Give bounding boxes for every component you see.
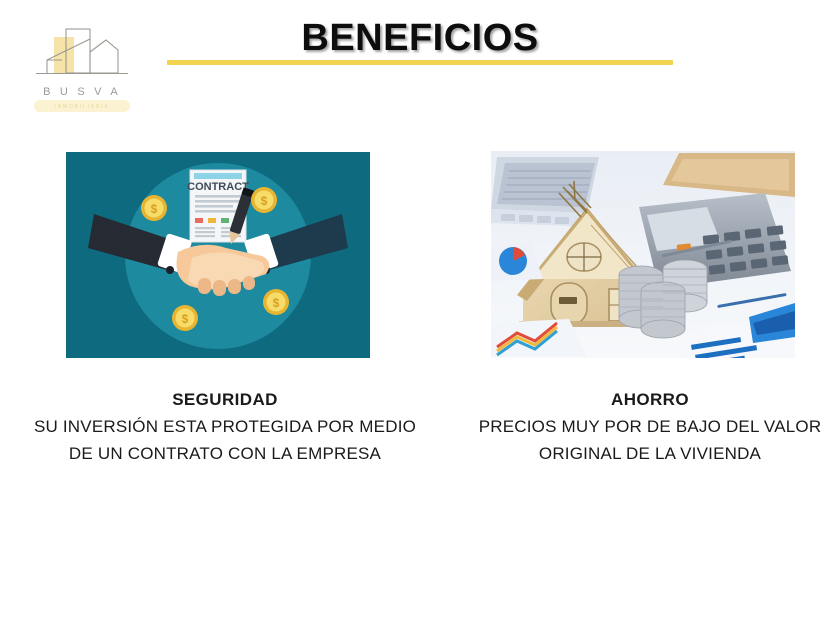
svg-text:$: $ [273, 296, 280, 310]
svg-text:CONTRACT: CONTRACT [187, 181, 249, 193]
benefit-body-seguridad: SU INVERSIÓN ESTA PROTEGIDA POR MEDIO DE… [30, 413, 420, 467]
benefit-body-ahorro: PRECIOS MUY POR DE BAJO DEL VALOR ORIGIN… [455, 413, 840, 467]
logo-wordmark: B U S V A [22, 86, 142, 98]
benefit-caption-ahorro: AHORRO PRECIOS MUY POR DE BAJO DEL VALOR… [455, 388, 840, 467]
handshake-contract-illustration-icon: CONTRACT [66, 152, 370, 358]
benefit-image-seguridad: CONTRACT [66, 152, 370, 358]
svg-text:$: $ [182, 312, 189, 326]
title-underline-rule [167, 60, 673, 65]
benefit-title-seguridad: SEGURIDAD [30, 388, 420, 412]
building-outline-logo-icon [22, 24, 142, 94]
benefit-caption-seguridad: SEGURIDAD SU INVERSIÓN ESTA PROTEGIDA PO… [30, 388, 420, 467]
page-title: BENEFICIOS [180, 17, 660, 60]
logo-subtitle: INMOBILIARIA [22, 104, 142, 110]
benefit-image-ahorro [491, 151, 795, 358]
wooden-house-coins-calculator-photo-icon [491, 151, 795, 358]
company-logo: B U S V A INMOBILIARIA [22, 24, 142, 110]
svg-text:$: $ [151, 202, 158, 216]
benefit-title-ahorro: AHORRO [455, 388, 840, 412]
svg-text:$: $ [261, 194, 268, 208]
